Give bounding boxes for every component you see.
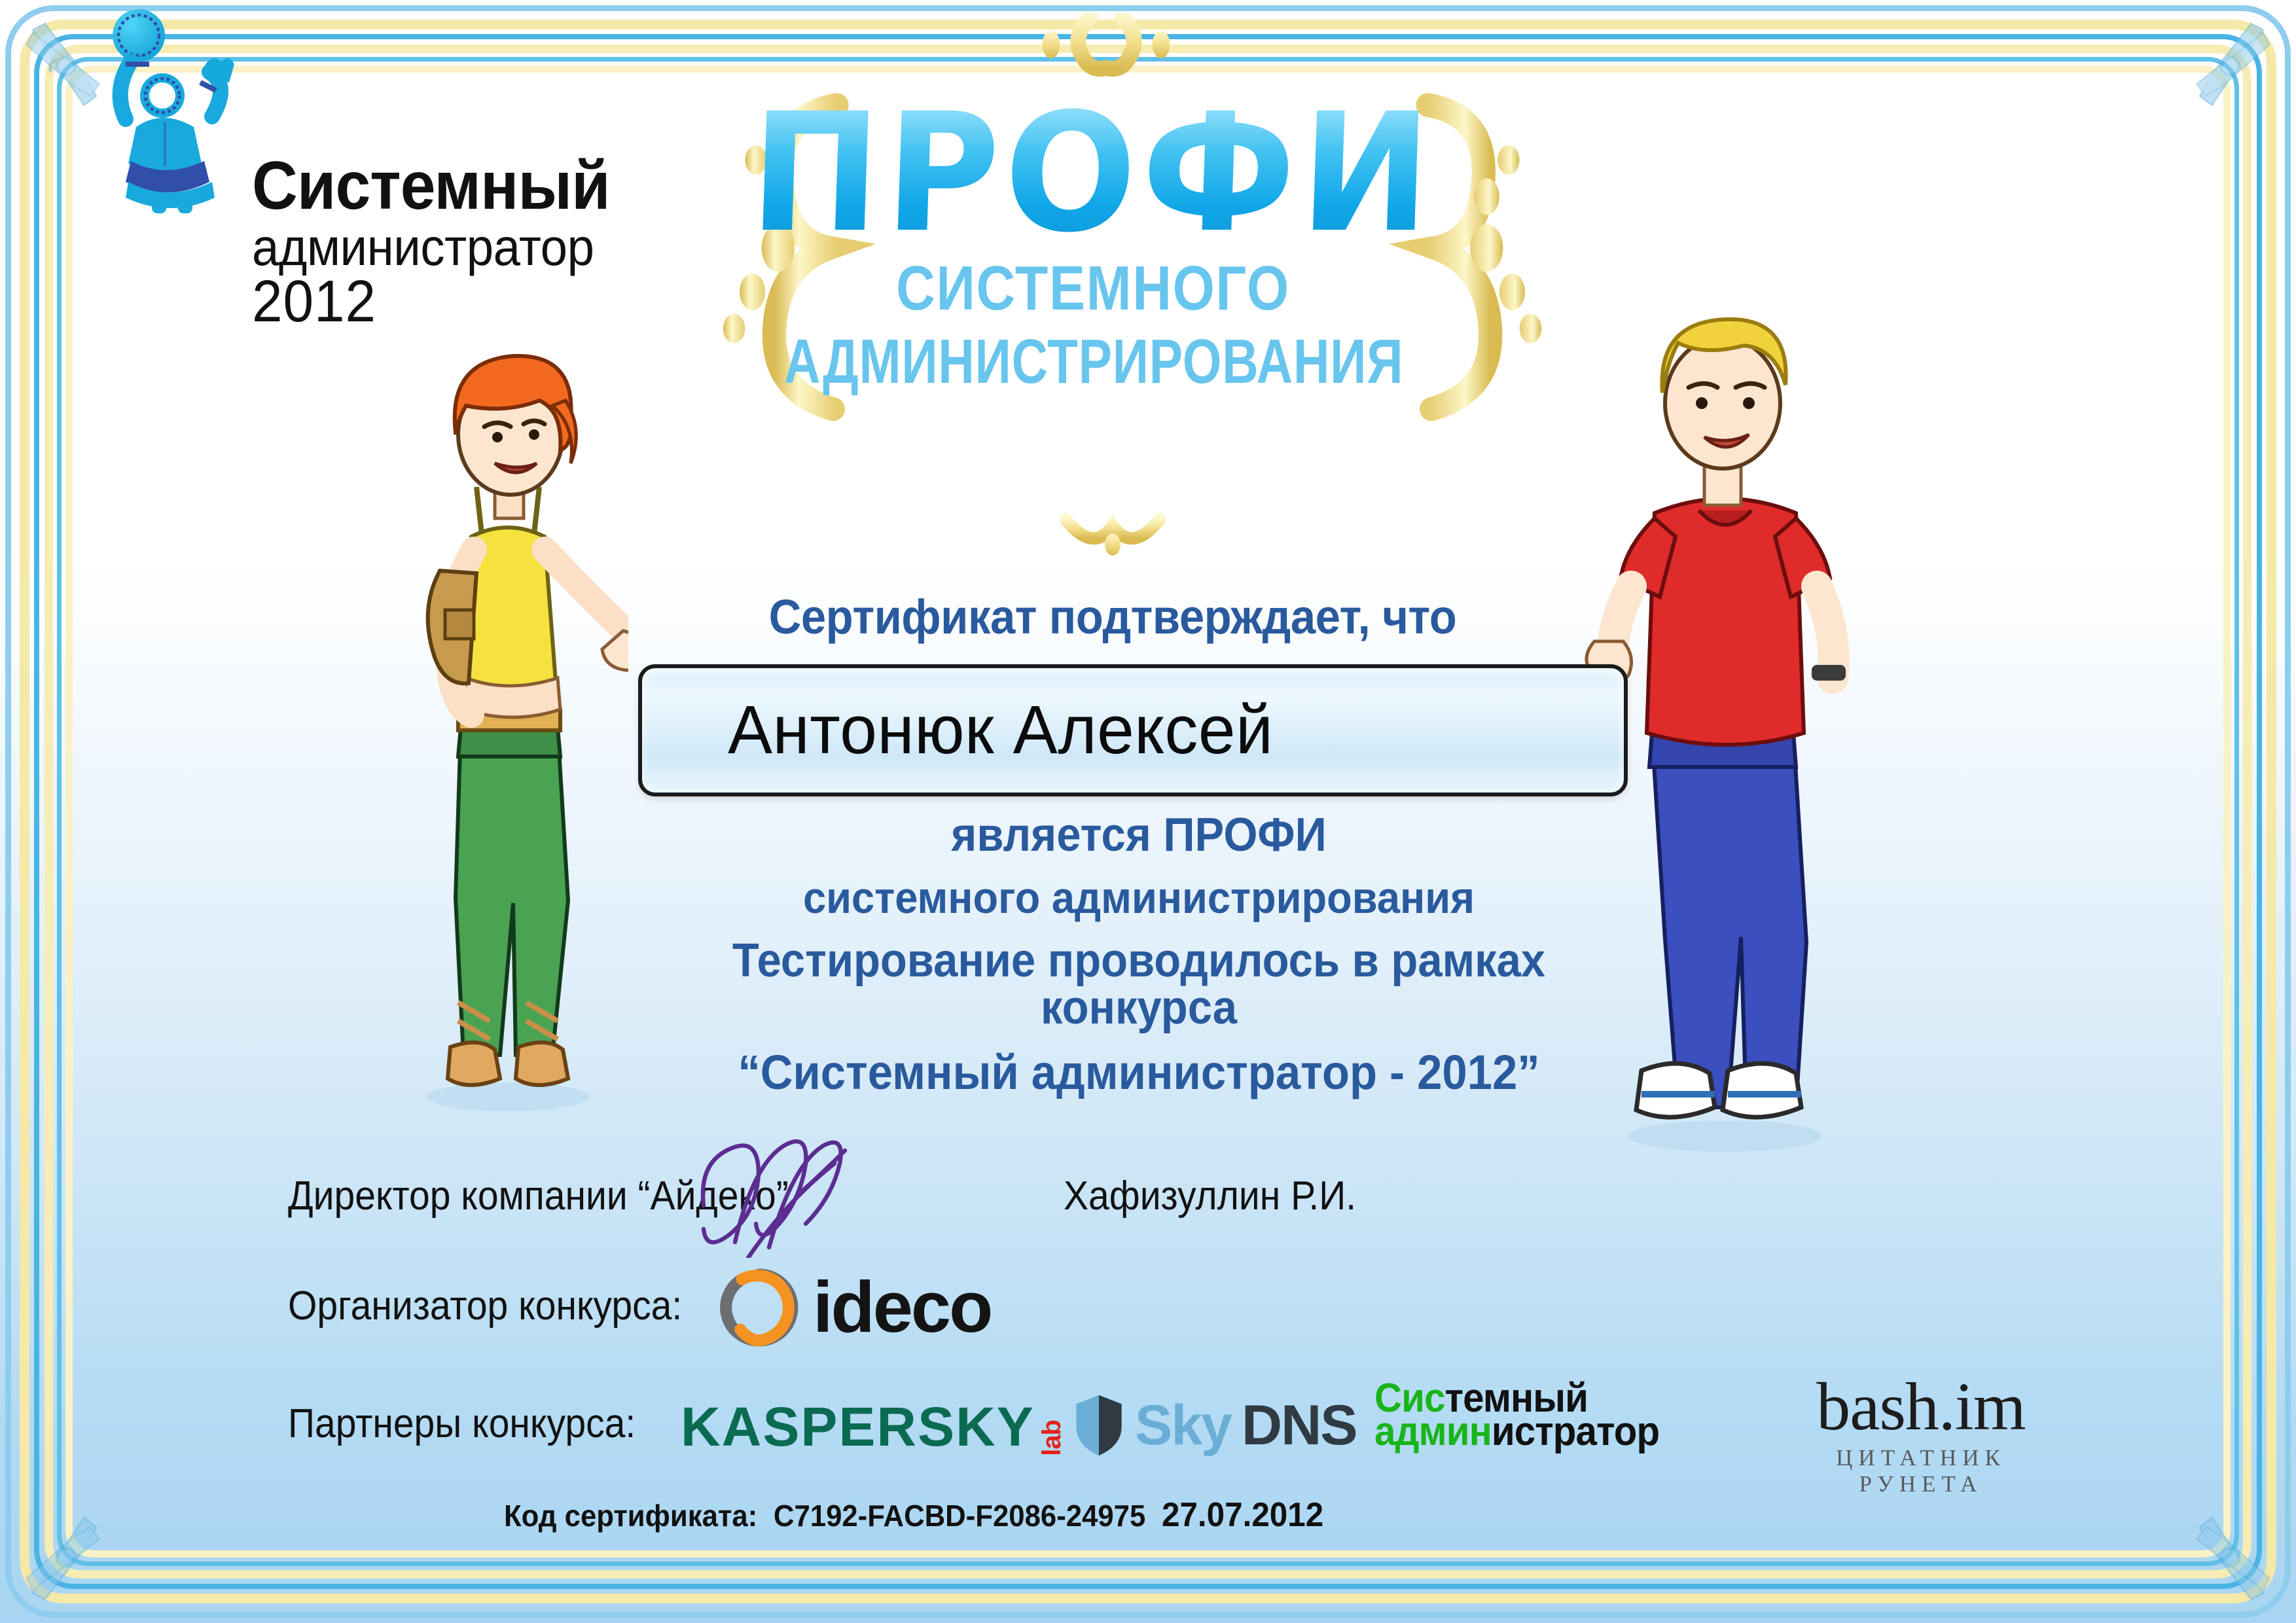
ideco-logo: ideco [720, 1266, 991, 1349]
partners-label: Партнеры конкурса: [288, 1400, 636, 1447]
organizer-label: Организатор конкурса: [288, 1283, 682, 1329]
certificate-canvas: Системный администратор 2012 [0, 0, 2296, 1623]
profi-subtitle-line-1: СИСТЕМНОГО [761, 253, 1426, 325]
bashim-logo: bash.im ЦИТАТНИК РУНЕТА [1787, 1373, 2055, 1497]
skydns-logo: Sky DNS [1073, 1393, 1357, 1458]
ideco-ring-icon [720, 1268, 798, 1347]
organizer-row: Организатор конкурса: ideco [288, 1270, 1139, 1368]
certificate-body: является ПРОФИ системного администрирова… [602, 811, 1676, 1114]
kaspersky-lab-suffix: lab [1039, 1420, 1065, 1456]
issue-date: 27.07.2012 [1162, 1495, 1323, 1535]
logo-line-2: администратор [252, 223, 672, 272]
page-title: Сертификат подтверждает, что [735, 589, 1490, 645]
recipient-name: Антонюк Алексей [652, 691, 1274, 770]
bashim-wordmark: bash.im [1787, 1373, 2055, 1441]
body-line-2: системного администрирования [639, 876, 1638, 920]
skydns-shield-icon [1073, 1393, 1124, 1458]
profi-subtitle-line-2: АДМИНИСТРИРОВАНИЯ [784, 326, 1402, 398]
body-line-1: является ПРОФИ [639, 811, 1638, 859]
handwritten-signature-icon [691, 1127, 874, 1258]
kaspersky-logo: KASPERSKY lab [681, 1395, 1065, 1459]
signature-row: Директор компании “Айдеко” Хафизуллин Р.… [288, 1158, 1401, 1237]
signer-name: Хафизуллин Р.И. [1064, 1173, 1356, 1219]
skydns-dns-text: DNS [1242, 1393, 1357, 1458]
partners-row: Партнеры конкурса: KASPERSKY lab Sky DNS… [288, 1381, 2055, 1486]
profi-header: ПРОФИ СИСТЕМНОГО АДМИНИСТРИРОВАНИЯ [707, 98, 1479, 398]
female-character-illustration [393, 340, 628, 1113]
ideco-wordmark: ideco [813, 1266, 991, 1349]
code-label: Код сертификата: [504, 1498, 757, 1533]
profi-title: ПРОФИ [724, 98, 1463, 249]
recipient-name-panel: Антонюк Алексей [638, 664, 1628, 796]
logo-line-3: 2012 [252, 274, 672, 330]
magazine-logo-text: Системный администратор 2012 [252, 154, 704, 330]
body-line-4: “Системный администратор - 2012” [639, 1048, 1638, 1097]
sysadmin-logo-line-2: администратор [1374, 1416, 1659, 1449]
skydns-sky-text: Sky [1135, 1393, 1231, 1458]
bashim-tagline: ЦИТАТНИК РУНЕТА [1787, 1445, 2055, 1497]
certificate-code-line: Код сертификата: C7192-FACBD-F2086-24975… [504, 1495, 1323, 1535]
kaspersky-wordmark: KASPERSKY [681, 1395, 1035, 1459]
logo-line-1: Системный [252, 154, 672, 219]
sysadmin-green-2: админ [1374, 1409, 1492, 1454]
code-value: C7192-FACBD-F2086-24975 [774, 1498, 1145, 1533]
sysadmin-black-2: истратор [1492, 1409, 1659, 1454]
body-line-3: Тестирование проводилось в рамках конкур… [639, 937, 1638, 1031]
sysadmin-magazine-logo: Системный администратор [1374, 1382, 1659, 1449]
